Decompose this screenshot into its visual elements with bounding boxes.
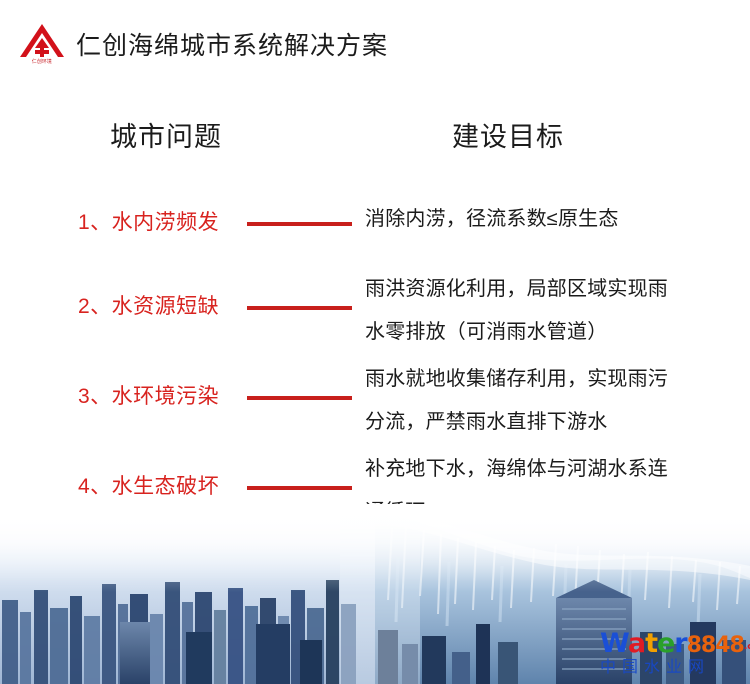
brand-logo: 仁创环境	[18, 21, 66, 71]
city-flood-photo: Water8848.com 中国水业网	[0, 504, 750, 684]
problem-label: 2、水资源短缺	[78, 292, 219, 322]
red-line-connector-icon	[247, 222, 352, 226]
logo-caption: 仁创环境	[19, 59, 65, 65]
column-heading-goals: 建设目标	[452, 118, 564, 156]
slide-root: 仁创环境 仁创海绵城市系统解决方案 城市问题 建设目标 1、水内涝频发 消除内涝…	[0, 0, 750, 684]
watermark-number: 8848	[687, 633, 744, 658]
watermark-wordmark: Water8848.com	[600, 630, 742, 657]
column-heading-problems: 城市问题	[110, 118, 222, 156]
red-line-connector-icon	[247, 396, 352, 400]
red-triangle-mountain-logo-icon	[18, 23, 66, 59]
goal-text: 雨洪资源化利用，局部区域实现雨水零排放（可消雨水管道）	[365, 268, 687, 354]
table-row: 2、水资源短缺 雨洪资源化利用，局部区域实现雨水零排放（可消雨水管道）	[0, 262, 750, 352]
problem-label: 1、水内涝频发	[78, 208, 219, 238]
red-line-connector-icon	[247, 486, 352, 490]
goal-text: 雨水就地收集储存利用，实现雨污分流，严禁雨水直排下游水	[365, 358, 687, 444]
red-line-connector-icon	[247, 306, 352, 310]
watermark-letter: t	[645, 628, 657, 659]
table-row: 3、水环境污染 雨水就地收集储存利用，实现雨污分流，严禁雨水直排下游水	[0, 352, 750, 442]
watermark-letter: r	[674, 628, 686, 659]
table-row: 1、水内涝频发 消除内涝，径流系数≤原生态	[0, 196, 750, 262]
watermark-letter: W	[600, 628, 628, 659]
problem-goal-list: 1、水内涝频发 消除内涝，径流系数≤原生态 2、水资源短缺 雨洪资源化利用，局部…	[0, 196, 750, 532]
page-title: 仁创海绵城市系统解决方案	[76, 31, 388, 61]
watermark-suffix: .com	[744, 642, 750, 652]
problem-label: 3、水环境污染	[78, 382, 219, 412]
watermark: Water8848.com 中国水业网	[600, 630, 742, 676]
watermark-subtitle: 中国水业网	[600, 660, 742, 676]
watermark-letter: a	[628, 628, 645, 659]
goal-text: 消除内涝，径流系数≤原生态	[365, 198, 687, 241]
watermark-letter: e	[657, 628, 674, 659]
problem-label: 4、水生态破坏	[78, 472, 219, 502]
slide-header: 仁创环境 仁创海绵城市系统解决方案	[0, 0, 750, 92]
column-headings: 城市问题 建设目标	[0, 118, 750, 160]
